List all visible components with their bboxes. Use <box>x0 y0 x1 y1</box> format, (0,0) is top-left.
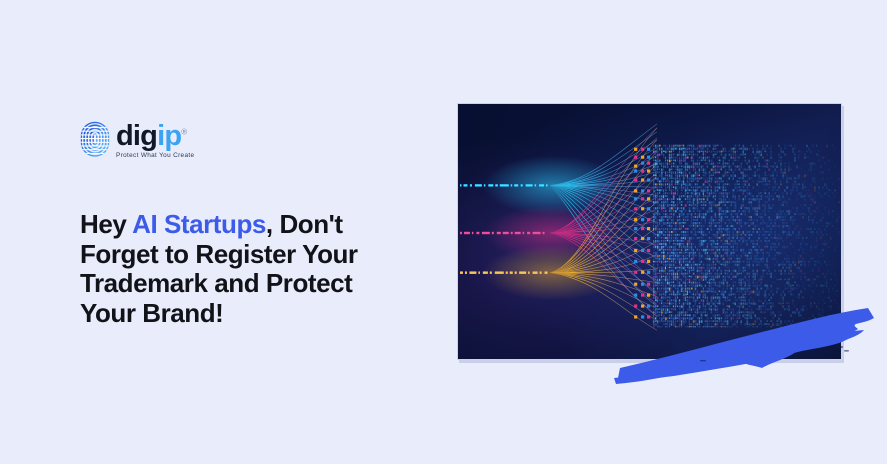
fingerprint-icon <box>80 121 110 157</box>
brand-name-secondary: ip <box>157 120 181 152</box>
hero-image <box>457 103 842 360</box>
artwork-alt-text: abstract AI data flow visualization with… <box>0 0 1 1</box>
digital-matrix <box>653 145 840 329</box>
headline-accent: AI Startups <box>132 209 266 239</box>
registered-trademark-icon: ® <box>181 127 186 136</box>
page-title: Hey AI Startups, Don't Forget to Registe… <box>80 210 390 328</box>
brand-wordmark: digip® Protect What You Create <box>116 118 194 159</box>
brand-tagline: Protect What You Create <box>116 152 194 159</box>
ai-data-flow-illustration <box>458 104 841 359</box>
headline-segment-1: Hey <box>80 209 132 239</box>
brand-logo[interactable]: digip® Protect What You Create <box>80 118 410 164</box>
brand-name-primary: dig <box>116 120 157 152</box>
content-column: digip® Protect What You Create Hey AI St… <box>80 118 410 328</box>
banner-root: digip® Protect What You Create Hey AI St… <box>0 0 887 464</box>
